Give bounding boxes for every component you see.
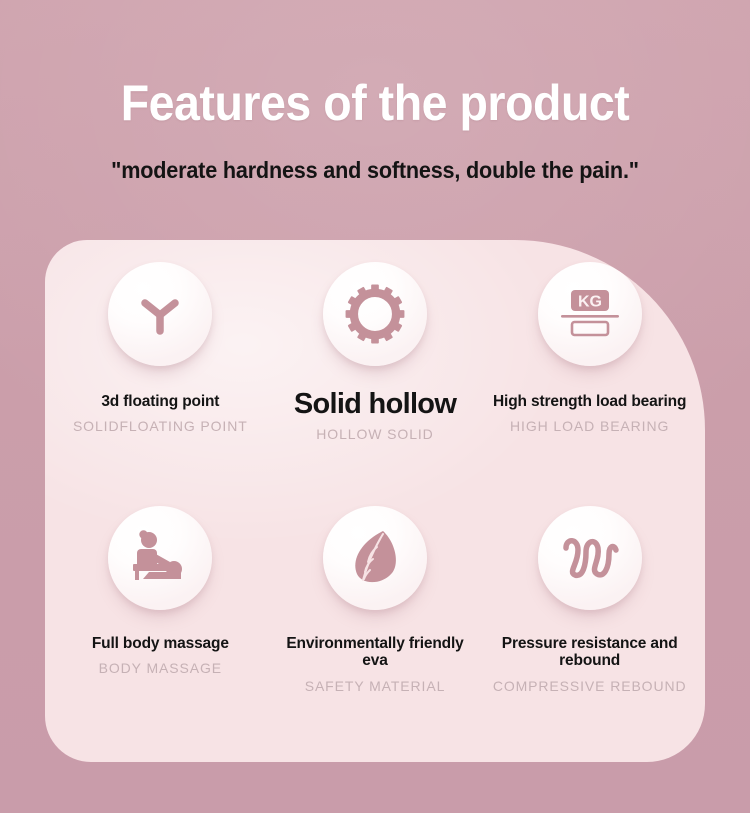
massage-therapist-icon (129, 529, 191, 587)
feature-card-3d-floating-point[interactable]: 3d floating point SOLIDFLOATING POINT (53, 262, 268, 506)
kg-weight-scale-icon: KG (559, 288, 621, 340)
page-subtitle: "moderate hardness and softness, double … (23, 128, 728, 182)
feature-sublabel: HOLLOW SOLID (316, 427, 433, 442)
header: Features of the product "moderate hardne… (0, 0, 750, 182)
icon-badge (538, 506, 642, 610)
feature-label: Full body massage (92, 635, 229, 652)
svg-text:KG: KG (578, 294, 602, 311)
feature-sublabel: SOLIDFLOATING POINT (73, 419, 248, 434)
feature-card-full-body-massage[interactable]: Full body massage BODY MASSAGE (53, 506, 268, 750)
three-prong-floating-point-icon (132, 286, 188, 342)
feature-card-solid-hollow[interactable]: Solid hollow HOLLOW SOLID (268, 262, 483, 506)
feature-sublabel: HIGH LOAD BEARING (510, 419, 669, 434)
feature-sublabel: BODY MASSAGE (99, 661, 222, 676)
feature-sublabel: COMPRESSIVE REBOUND (493, 679, 687, 694)
icon-badge (323, 506, 427, 610)
features-grid: 3d floating point SOLIDFLOATING POINT (45, 240, 705, 762)
feature-label: Solid hollow (294, 388, 456, 420)
spring-coil-icon (559, 534, 621, 582)
icon-badge: KG (538, 262, 642, 366)
feature-card-high-load-bearing[interactable]: KG High strength load bearing HIGH LOAD … (482, 262, 697, 506)
feature-label: Environmentally friendly eva (275, 635, 475, 670)
feature-card-pressure-rebound[interactable]: Pressure resistance and rebound COMPRESS… (482, 506, 697, 750)
icon-badge (108, 506, 212, 610)
feature-label: 3d floating point (101, 393, 219, 410)
page-title: Features of the product (26, 0, 724, 128)
gear-icon (343, 282, 407, 346)
feature-card-eco-eva[interactable]: Environmentally friendly eva SAFETY MATE… (268, 506, 483, 750)
icon-badge (323, 262, 427, 366)
features-panel: 3d floating point SOLIDFLOATING POINT (45, 240, 705, 762)
feature-label: High strength load bearing (493, 393, 686, 410)
feature-sublabel: SAFETY MATERIAL (305, 679, 446, 694)
feature-label: Pressure resistance and rebound (490, 635, 690, 670)
leaf-icon (347, 528, 403, 588)
icon-badge (108, 262, 212, 366)
